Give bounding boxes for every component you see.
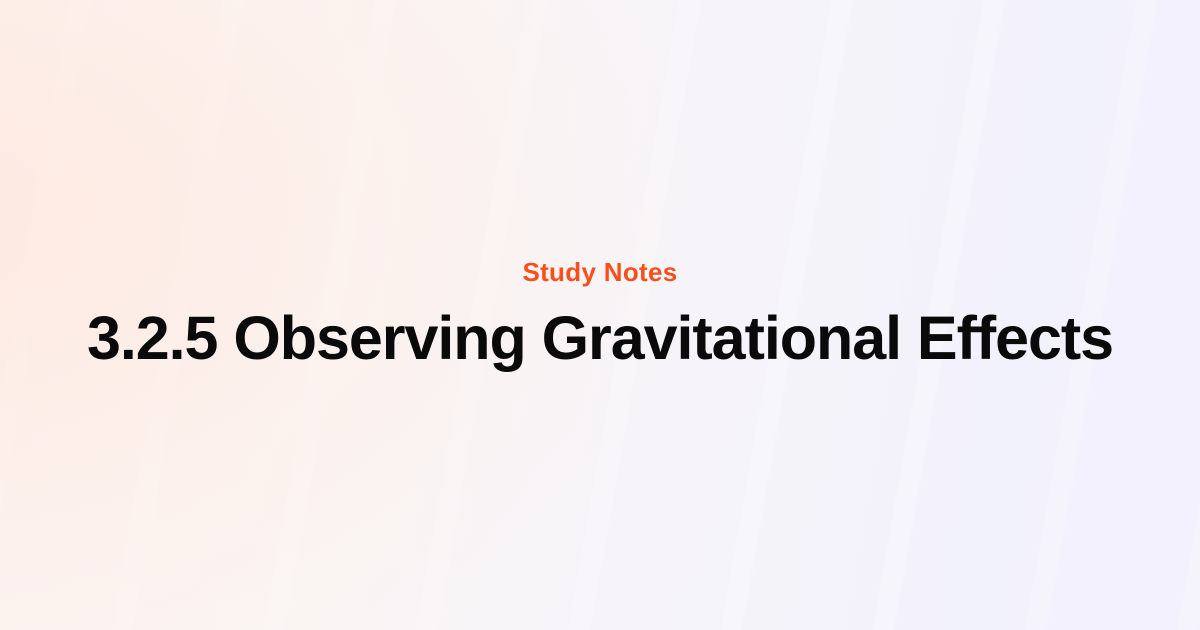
card-title: 3.2.5 Observing Gravitational Effects (87, 306, 1113, 372)
card-eyebrow-label: Study Notes (522, 258, 677, 287)
card-content: Study Notes 3.2.5 Observing Gravitationa… (0, 0, 1200, 630)
study-notes-card: Study Notes 3.2.5 Observing Gravitationa… (0, 0, 1200, 630)
